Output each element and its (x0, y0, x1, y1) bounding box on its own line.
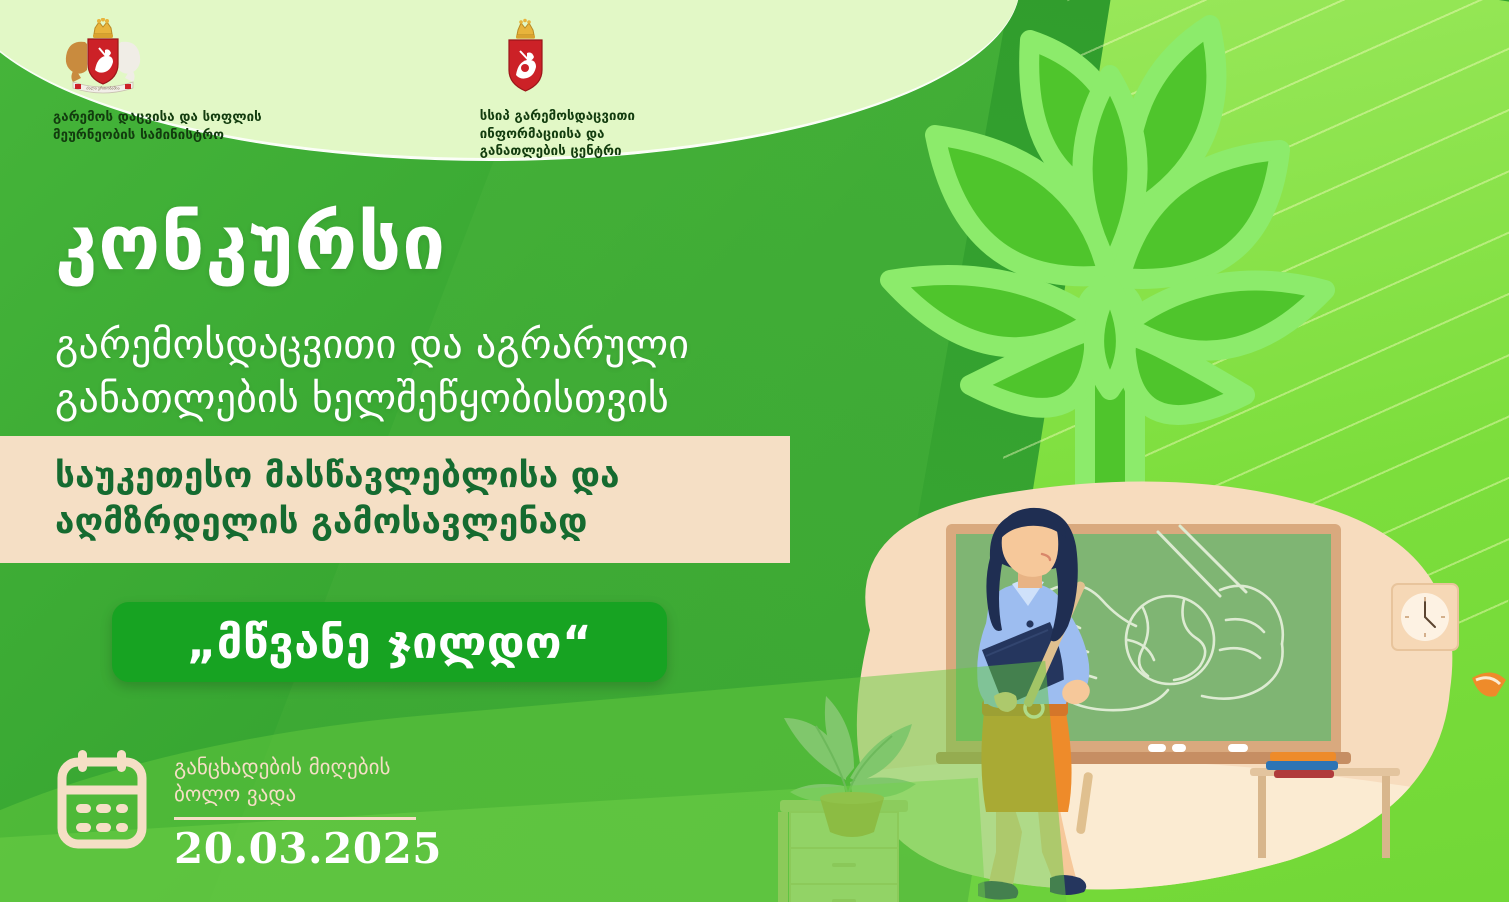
award-name-pill[interactable]: „მწვანე ჯილდო“ (112, 602, 667, 682)
deadline-text-group: განცხადების მიღების ბოლო ვადა 20.03.2025 (174, 748, 442, 873)
georgia-coat-of-arms-icon: ძალა ერთობაშია (55, 18, 151, 102)
georgia-small-shield-icon (496, 18, 558, 100)
svg-text:ძალა ერთობაშია: ძალა ერთობაშია (86, 86, 119, 91)
logo-ministry-label: გარემოს დაცვისა და სოფლის მეურნეობის სამ… (53, 109, 262, 144)
logo-centre: სსიპ გარემოსდაცვითი ინფორმაციისა და განა… (480, 18, 635, 161)
page-title: კონკურსი (55, 205, 446, 281)
award-name-label: „მწვანე ჯილდო“ (187, 616, 592, 669)
deadline-divider (174, 817, 416, 820)
beige-banner: საუკეთესო მასწავლებლისა და აღმზრდელის გა… (0, 436, 790, 563)
beige-banner-text: საუკეთესო მასწავლებლისა და აღმზრდელის გა… (55, 454, 620, 545)
logo-row: ძალა ერთობაშია გარემოს დაცვისა და სოფლის… (55, 18, 635, 161)
logo-centre-label: სსიპ გარემოსდაცვითი ინფორმაციისა და განა… (480, 108, 635, 161)
logo-ministry: ძალა ერთობაშია გარემოს დაცვისა და სოფლის… (55, 18, 262, 144)
page-subtitle: გარემოსდაცვითი და აგრარული განათლების ხე… (55, 318, 689, 427)
deadline-date: 20.03.2025 (174, 824, 442, 873)
calendar-icon (52, 748, 152, 858)
deadline-block: განცხადების მიღების ბოლო ვადა 20.03.2025 (52, 748, 442, 873)
poster-canvas: ძალა ერთობაშია გარემოს დაცვისა და სოფლის… (0, 0, 1509, 902)
deadline-label: განცხადების მიღების ბოლო ვადა (174, 754, 442, 808)
